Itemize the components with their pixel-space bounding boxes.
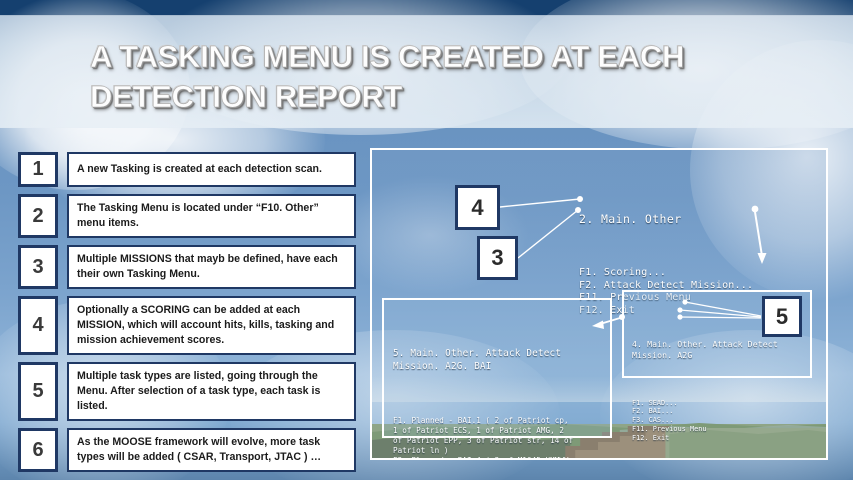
step-number-badge: 2 (18, 194, 58, 238)
list-item: 2 The Tasking Menu is located under “F10… (18, 194, 356, 238)
title-band: A TASKING MENU IS CREATED AT EACH DETECT… (0, 15, 853, 128)
list-item: 5 Multiple task types are listed, going … (18, 362, 356, 421)
menu-header: 2. Main. Other (579, 212, 753, 226)
menu-bai-content: 5. Main. Other. Attack Detect Mission. A… (393, 310, 573, 460)
step-number-badge: 4 (18, 296, 58, 355)
list-item: 3 Multiple MISSIONS that mayb be defined… (18, 245, 356, 289)
step-text: As the MOOSE framework will evolve, more… (67, 428, 356, 472)
menu-a2g-content: 4. Main. Other. Attack Detect Mission. A… (632, 301, 778, 460)
menu-header: 4. Main. Other. Attack Detect Mission. A… (632, 339, 778, 361)
callout-badge-4: 4 (455, 185, 500, 230)
menu-box-bai: 5. Main. Other. Attack Detect Mission. A… (382, 298, 612, 438)
numbered-steps-list: 1 A new Tasking is created at each detec… (18, 152, 356, 479)
step-number-badge: 6 (18, 428, 58, 472)
callout-badge-3: 3 (477, 236, 518, 280)
step-number-badge: 5 (18, 362, 58, 421)
list-item: 4 Optionally a SCORING can be added at e… (18, 296, 356, 355)
step-number-badge: 1 (18, 152, 58, 187)
page-title: A TASKING MENU IS CREATED AT EACH DETECT… (90, 37, 790, 118)
step-text: Multiple task types are listed, going th… (67, 362, 356, 421)
step-text: Multiple MISSIONS that mayb be defined, … (67, 245, 356, 289)
list-item: 1 A new Tasking is created at each detec… (18, 152, 356, 187)
menu-header: 5. Main. Other. Attack Detect Mission. A… (393, 348, 573, 374)
menu-items: F1. Planned - BAI.1 ( 2 of Patriot cp, 1… (393, 416, 573, 460)
step-text: The Tasking Menu is located under “F10. … (67, 194, 356, 238)
step-text: A new Tasking is created at each detecti… (67, 152, 356, 187)
game-screenshot-panel: 2. Main. Other F1. Scoring... F2. Attack… (370, 148, 828, 460)
menu-items: F1. SEAD... F2. BAI... F3. CAS... F11. P… (632, 399, 778, 443)
callout-badge-5: 5 (762, 296, 802, 337)
slide-canvas: A TASKING MENU IS CREATED AT EACH DETECT… (0, 0, 853, 480)
step-number-badge: 3 (18, 245, 58, 289)
step-text: Optionally a SCORING can be added at eac… (67, 296, 356, 355)
list-item: 6 As the MOOSE framework will evolve, mo… (18, 428, 356, 472)
